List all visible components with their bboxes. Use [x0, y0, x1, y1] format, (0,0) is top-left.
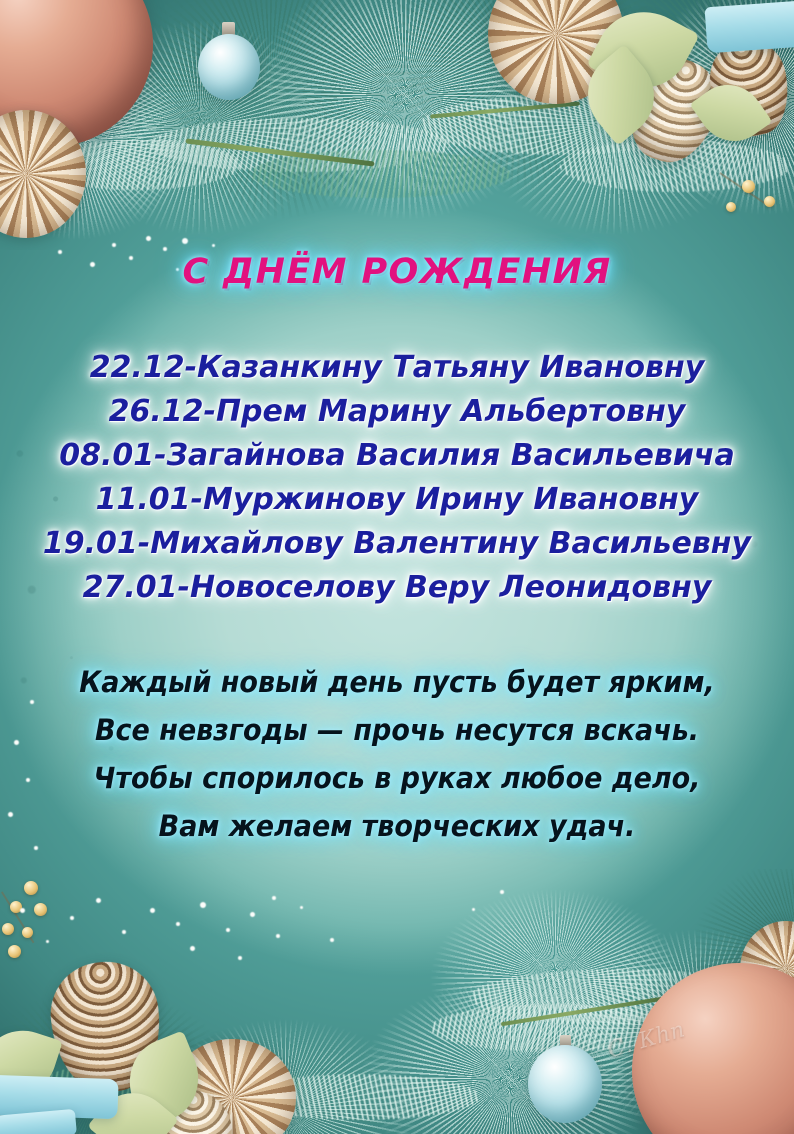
list-item: 26.12-Прем Марину Альбертовну: [0, 390, 794, 434]
poem-line: Чтобы спорилось в руках любое дело,: [28, 754, 766, 802]
watermark-signature: С. Кһп: [605, 1006, 727, 1063]
list-item: 27.01-Новоселову Веру Леонидовну: [0, 566, 794, 610]
birthday-name-list: 22.12-Казанкину Татьяну Ивановну 26.12-П…: [0, 346, 794, 610]
list-item: 08.01-Загайнова Василия Васильевича: [0, 434, 794, 478]
poem-line: Все невзгоды — прочь несутся вскачь.: [28, 706, 766, 754]
greeting-card: С ДНЁМ РОЖДЕНИЯ 22.12-Казанкину Татьяну …: [0, 0, 794, 1134]
greeting-poem: Каждый новый день пусть будет ярким, Все…: [0, 658, 794, 850]
card-content: С ДНЁМ РОЖДЕНИЯ 22.12-Казанкину Татьяну …: [0, 0, 794, 1134]
list-item: 11.01-Муржинову Ирину Ивановну: [0, 478, 794, 522]
page-title: С ДНЁМ РОЖДЕНИЯ: [0, 252, 794, 292]
poem-line: Вам желаем творческих удач.: [28, 802, 766, 850]
list-item: 19.01-Михайлову Валентину Васильевну: [0, 522, 794, 566]
poem-line: Каждый новый день пусть будет ярким,: [28, 658, 766, 706]
list-item: 22.12-Казанкину Татьяну Ивановну: [0, 346, 794, 390]
